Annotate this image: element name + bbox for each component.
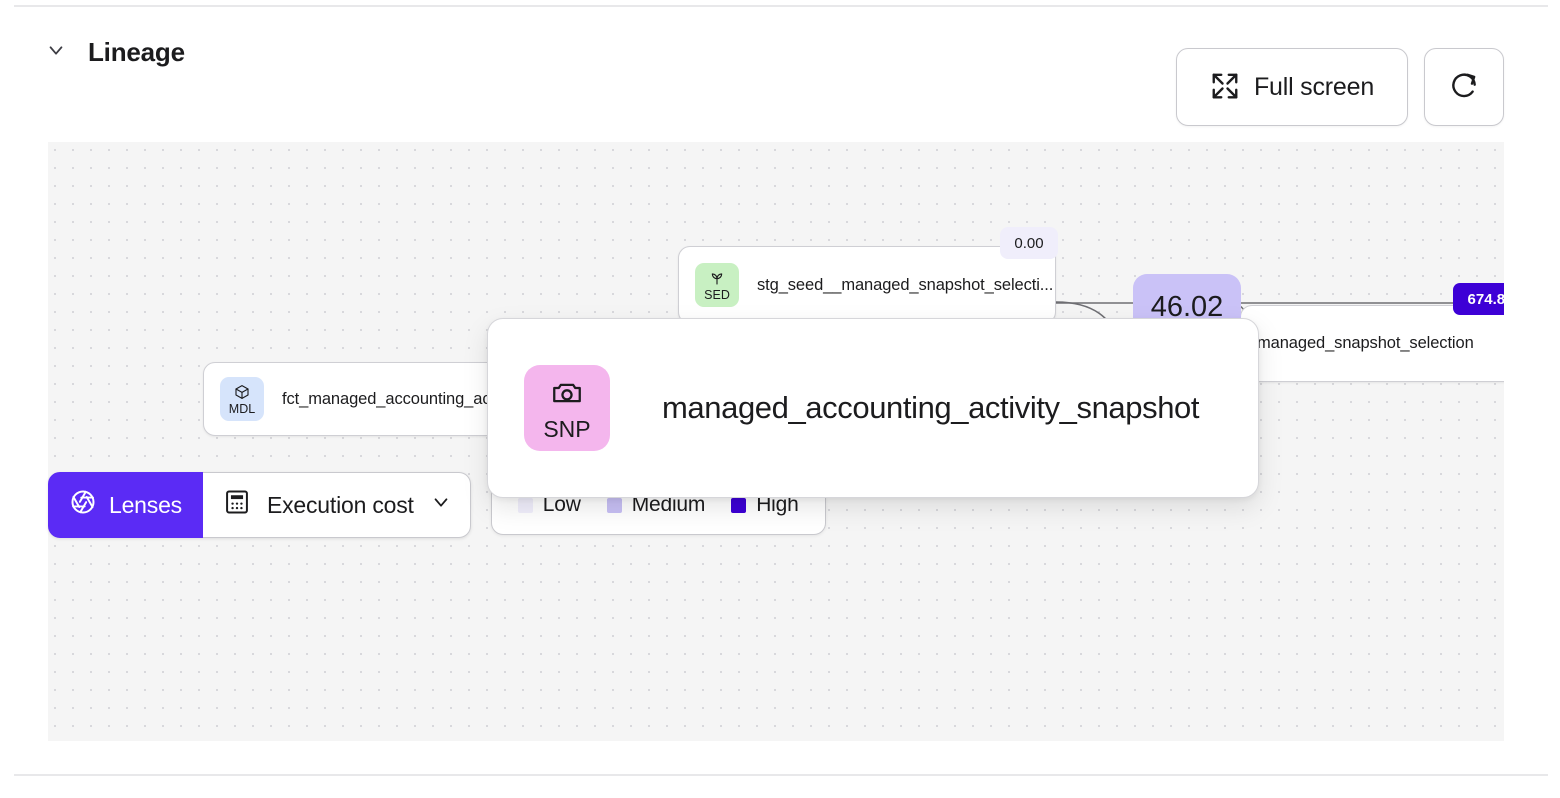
node-type-badge-mdl: MDL (220, 377, 264, 421)
node-type-code: SED (704, 289, 730, 302)
expand-arrows-icon (1210, 71, 1240, 104)
cube-icon (234, 383, 250, 402)
top-divider (14, 5, 1548, 7)
node-label: fct_managed_accounting_act (282, 390, 495, 409)
refresh-button[interactable] (1424, 48, 1504, 126)
refresh-icon (1448, 70, 1480, 105)
graph-node-seed[interactable]: SED stg_seed__managed_snapshot_selecti..… (678, 246, 1056, 324)
cost-chip-high: 674.87 (1453, 283, 1504, 315)
node-label: stg_seed__managed_snapshot_selecti... (757, 276, 1053, 295)
node-label: managed_snapshot_selection (1257, 334, 1474, 353)
chevron-down-icon (45, 39, 67, 66)
hover-card-type-badge: SNP (524, 365, 610, 451)
page-title: Lineage (88, 39, 185, 65)
node-type-code: MDL (229, 403, 255, 416)
hover-card-title: managed_accounting_activity_snapshot (662, 390, 1199, 426)
lens-group: Lenses Execution cost (48, 472, 471, 538)
graph-node-right[interactable]: managed_snapshot_selection (1240, 305, 1504, 382)
hover-card-type-code: SNP (543, 418, 590, 441)
node-type-badge-sed: SED (695, 263, 739, 307)
legend-swatch-high (731, 498, 746, 513)
cost-chip-low: 0.00 (1000, 227, 1058, 259)
lenses-label: Lenses (109, 492, 182, 519)
calculator-icon (223, 488, 251, 522)
chevron-down-icon (430, 491, 452, 519)
legend-swatch-low (518, 498, 533, 513)
node-hover-card[interactable]: SNP managed_accounting_activity_snapshot (487, 318, 1259, 498)
bottom-divider (14, 774, 1548, 776)
legend-swatch-medium (607, 498, 622, 513)
lenses-button[interactable]: Lenses (48, 472, 203, 538)
aperture-icon (69, 488, 97, 522)
canvas-controls: Full screen (1176, 48, 1504, 126)
seedling-icon (709, 269, 725, 288)
fullscreen-button[interactable]: Full screen (1176, 48, 1408, 126)
lens-select[interactable]: Execution cost (203, 472, 471, 538)
collapse-section-button[interactable] (40, 36, 72, 68)
fullscreen-label: Full screen (1254, 73, 1374, 102)
section-header: Lineage (40, 36, 185, 68)
lineage-page: Lineage SED stg_seed__managed_snapshot_s (0, 0, 1560, 798)
lens-select-value: Execution cost (267, 492, 414, 519)
camera-icon (550, 376, 584, 415)
